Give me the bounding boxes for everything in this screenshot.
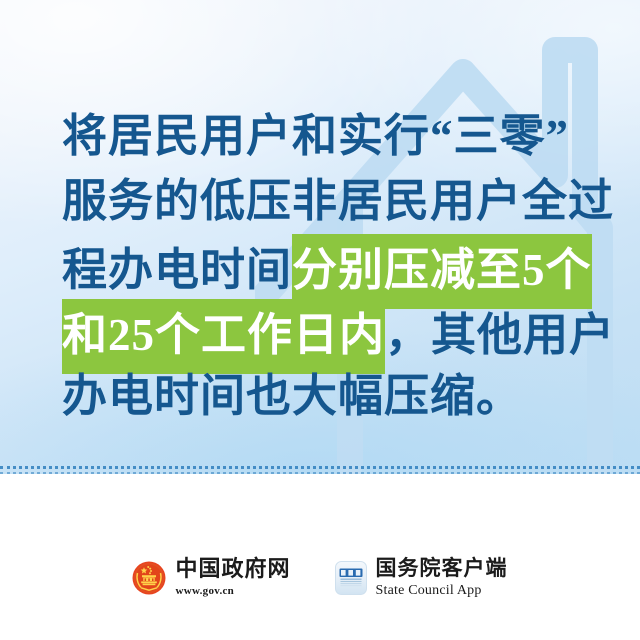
headline-segment: 程办电时间	[62, 238, 292, 303]
gov-logo[interactable]: 中国政府网 www.gov.cn	[132, 558, 290, 597]
app-logo-text: 国务院客户端 State Council App	[376, 558, 508, 598]
headline-block: 将居民用户和实行“三零” 服务的低压非居民用户全过 程办电时间分别压减至5个 和…	[0, 104, 640, 429]
headline-line-3: 程办电时间分别压减至5个	[0, 234, 640, 299]
headline-line-4: 和25个工作日内，其他用户	[0, 299, 640, 364]
gov-logo-url: www.gov.cn	[175, 586, 290, 597]
national-emblem-icon	[132, 561, 166, 595]
headline-segment: ，其他用户	[385, 303, 615, 368]
footer-logo-row: 中国政府网 www.gov.cn	[0, 558, 640, 598]
app-logo-name-en: State Council App	[376, 584, 508, 598]
headline-segment: 服务的低压非居民用户全过	[62, 169, 614, 234]
headline-highlight-segment: 和25个工作日内	[62, 299, 385, 374]
headline-line-1: 将居民用户和实行“三零”	[0, 104, 640, 169]
poster-root: 将居民用户和实行“三零” 服务的低压非居民用户全过 程办电时间分别压减至5个 和…	[0, 0, 640, 640]
state-council-app-icon	[335, 560, 367, 596]
gov-logo-text: 中国政府网 www.gov.cn	[175, 558, 290, 597]
headline-segment: 办电时间也大幅压缩。	[62, 364, 522, 429]
footer: 中国政府网 www.gov.cn	[0, 474, 640, 640]
headline-highlight-segment: 分别压减至5个	[292, 234, 592, 309]
headline-line-2: 服务的低压非居民用户全过	[0, 169, 640, 234]
gov-logo-name: 中国政府网	[175, 558, 290, 580]
divider-dashed-top	[0, 466, 640, 469]
app-logo[interactable]: 国务院客户端 State Council App	[335, 558, 508, 598]
headline-segment: 将居民用户和实行“三零”	[62, 104, 569, 169]
headline-line-5: 办电时间也大幅压缩。	[0, 364, 640, 429]
app-logo-name: 国务院客户端	[376, 558, 508, 579]
